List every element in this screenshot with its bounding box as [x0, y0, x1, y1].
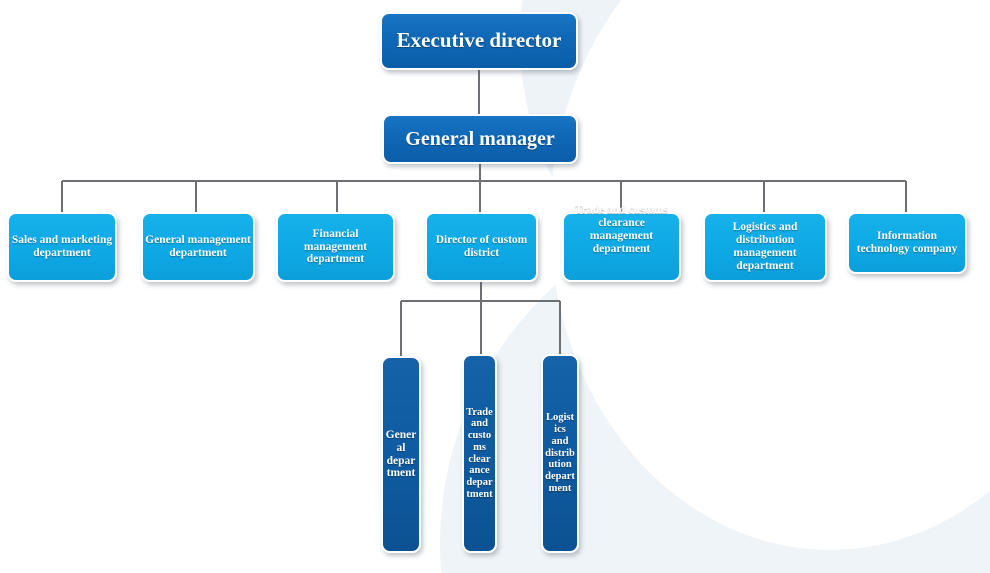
node-financial-management-department[interactable]: Financial management department — [276, 212, 395, 282]
org-chart-canvas: Executive director General manager Sales… — [0, 0, 990, 573]
background-swoosh-top — [520, 0, 990, 350]
node-label: Financial management department — [278, 228, 393, 267]
node-director-of-custom-district[interactable]: Director of custom district — [425, 212, 538, 282]
node-label: General department — [383, 429, 419, 481]
node-label: Sales and marketing department — [9, 234, 115, 260]
node-general-management-department[interactable]: General management department — [141, 212, 255, 282]
node-information-technology-company[interactable]: Information technology company — [847, 212, 967, 274]
node-label: Logistics and distribution department — [543, 412, 577, 494]
node-trade-and-customs-clearance-management-department[interactable]: Trade and customs clearance management d… — [562, 212, 681, 282]
node-label: Trade and customs clearance management d… — [564, 204, 679, 256]
node-general-department[interactable]: General department — [381, 356, 421, 553]
node-label: Information technology company — [849, 230, 965, 256]
node-label: General manager — [384, 128, 576, 150]
node-label: General management department — [143, 234, 253, 260]
node-label: Director of custom district — [427, 234, 536, 260]
node-logistics-and-distribution-management-department[interactable]: Logistics and distribution management de… — [703, 212, 827, 282]
node-sales-and-marketing-department[interactable]: Sales and marketing department — [7, 212, 117, 282]
node-logistics-and-distribution-department[interactable]: Logistics and distribution department — [541, 354, 579, 553]
node-executive-director[interactable]: Executive director — [380, 12, 578, 70]
node-label: Executive director — [382, 29, 576, 53]
node-trade-and-customs-clearance-department[interactable]: Trade and customs clearance department — [462, 354, 497, 553]
node-label: Trade and customs clearance department — [464, 407, 495, 501]
node-label: Logistics and distribution management de… — [705, 221, 825, 273]
node-general-manager[interactable]: General manager — [382, 114, 578, 164]
